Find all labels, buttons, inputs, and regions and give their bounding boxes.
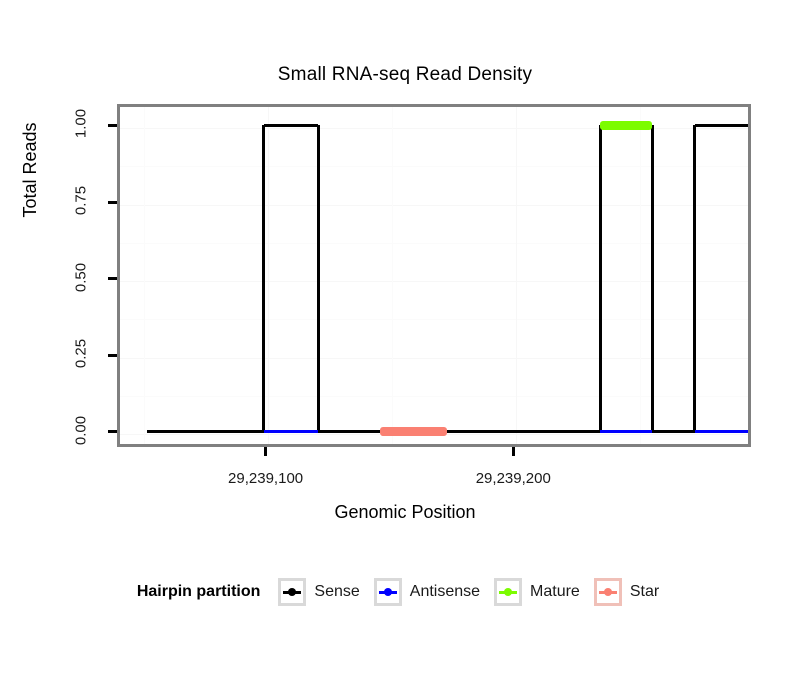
legend-key-dot [604, 588, 612, 596]
y-axis-tick-mark [108, 201, 117, 204]
legend-label: Star [630, 583, 659, 601]
legend-item-sense[interactable]: Sense [278, 578, 359, 606]
y-axis-tick-mark [108, 277, 117, 280]
y-axis-tick-mark [108, 354, 117, 357]
legend-key-icon [278, 578, 306, 606]
gridline-vertical [516, 107, 517, 444]
plot-panel [117, 104, 751, 447]
legend-item-mature[interactable]: Mature [494, 578, 580, 606]
legend-key-dot [504, 588, 512, 596]
plot-drawing-area [120, 107, 748, 444]
y-axis-tick-mark [108, 430, 117, 433]
x-axis-tick-label: 29,239,200 [476, 470, 551, 487]
y-axis-tick-label: 1.00 [73, 101, 90, 147]
y-axis-tick-label: 0.75 [73, 178, 90, 224]
legend-key-icon [374, 578, 402, 606]
chart-page: Small RNA-seq Read Density Total Reads 0… [0, 0, 810, 690]
sense-step-horizontal [147, 430, 263, 433]
legend-key-dot [384, 588, 392, 596]
legend-title: Hairpin partition [137, 583, 261, 601]
sense-step-vertical [693, 125, 696, 431]
gridline-vertical-minor [640, 107, 641, 444]
star-span [380, 427, 447, 436]
legend-label: Antisense [410, 583, 480, 601]
sense-step-horizontal [318, 430, 600, 433]
y-axis-title: Total Reads [20, 122, 41, 217]
legend-key-icon [494, 578, 522, 606]
y-axis-tick-label: 0.25 [73, 331, 90, 377]
x-axis-tick-mark [512, 447, 515, 456]
sense-step-horizontal [652, 430, 694, 433]
x-axis-title: Genomic Position [0, 502, 810, 523]
legend-key-icon [594, 578, 622, 606]
y-axis-tick-label: 0.00 [73, 407, 90, 453]
sense-step-vertical [317, 125, 320, 431]
antisense-span [264, 430, 318, 433]
legend-entries: SenseAntisenseMatureStar [278, 578, 673, 606]
gridline-vertical [268, 107, 269, 444]
sense-step-vertical [651, 125, 654, 431]
sense-step-horizontal [264, 124, 318, 127]
antisense-span [695, 430, 748, 433]
page-title: Small RNA-seq Read Density [0, 64, 810, 86]
gridline-vertical-minor [144, 107, 145, 444]
legend-label: Mature [530, 583, 580, 601]
sense-step-vertical [599, 125, 602, 431]
x-axis-tick-label: 29,239,100 [228, 470, 303, 487]
y-axis-tick-label: 0.50 [73, 254, 90, 300]
y-axis-tick-mark [108, 124, 117, 127]
legend-key-dot [288, 588, 296, 596]
legend-item-star[interactable]: Star [594, 578, 659, 606]
sense-step-horizontal [695, 124, 748, 127]
legend-item-antisense[interactable]: Antisense [374, 578, 480, 606]
legend: Hairpin partition SenseAntisenseMatureSt… [0, 578, 810, 606]
antisense-span [600, 430, 652, 433]
gridline-vertical-minor [392, 107, 393, 444]
legend-label: Sense [314, 583, 359, 601]
mature-span [600, 121, 652, 130]
sense-step-vertical [262, 125, 265, 431]
x-axis-tick-mark [264, 447, 267, 456]
